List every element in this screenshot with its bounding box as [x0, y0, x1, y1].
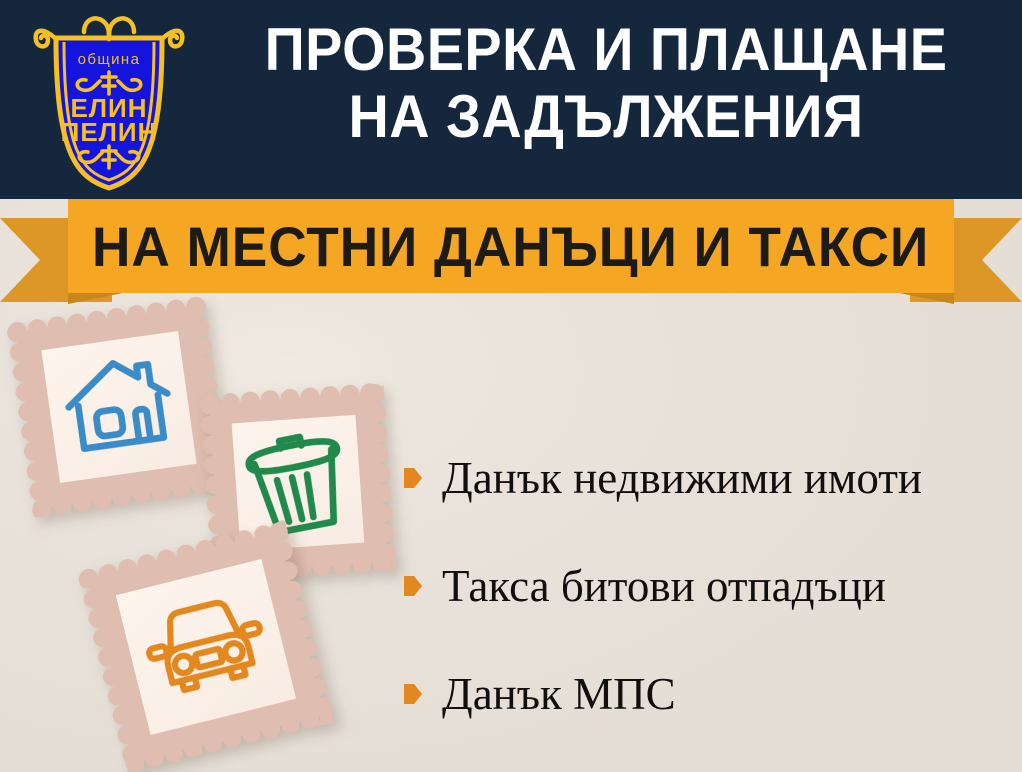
list-item-label: Такса битови отпадъци: [442, 564, 886, 609]
list-item[interactable]: Такса битови отпадъци: [404, 532, 1012, 640]
poster-root: община ЕЛИН ПЕЛИН ПРОВЕРКА И ПЛАЩАНЕ НА …: [0, 0, 1022, 772]
tax-type-list: Данък недвижими имоти Такса битови отпад…: [404, 424, 1012, 748]
house-icon: [41, 331, 196, 483]
list-item[interactable]: Данък недвижими имоти: [404, 424, 1012, 532]
page-title: ПРОВЕРКА И ПЛАЩАНЕ НА ЗАДЪЛЖЕНИЯ: [200, 16, 1012, 150]
page-title-line-1: ПРОВЕРКА И ПЛАЩАНЕ: [228, 16, 983, 83]
arrow-bullet-icon: [404, 467, 422, 489]
stamp-photo-house: [41, 331, 196, 483]
stamp-card-house: [16, 306, 221, 508]
svg-text:ПЕЛИН: ПЕЛИН: [61, 117, 158, 147]
stamp-card-car: [88, 531, 324, 763]
header-bar: община ЕЛИН ПЕЛИН ПРОВЕРКА И ПЛАЩАНЕ НА …: [0, 0, 1022, 199]
ribbon-label: НА МЕСТНИ ДАНЪЦИ И ТАКСИ: [92, 214, 929, 279]
list-item-label: Данък МПС: [442, 672, 676, 717]
page-title-line-2: НА ЗАДЪЛЖЕНИЯ: [228, 83, 983, 150]
ribbon-banner: НА МЕСТНИ ДАНЪЦИ И ТАКСИ: [0, 196, 1022, 306]
list-item-label: Данък недвижими имоти: [442, 456, 922, 501]
ribbon-face: НА МЕСТНИ ДАНЪЦИ И ТАКСИ: [68, 199, 954, 293]
list-item[interactable]: Данък МПС: [404, 640, 1012, 748]
svg-text:община: община: [78, 51, 141, 68]
coat-of-arms-icon: община ЕЛИН ПЕЛИН: [26, 6, 192, 196]
arrow-bullet-icon: [404, 575, 422, 597]
arrow-bullet-icon: [404, 683, 422, 705]
